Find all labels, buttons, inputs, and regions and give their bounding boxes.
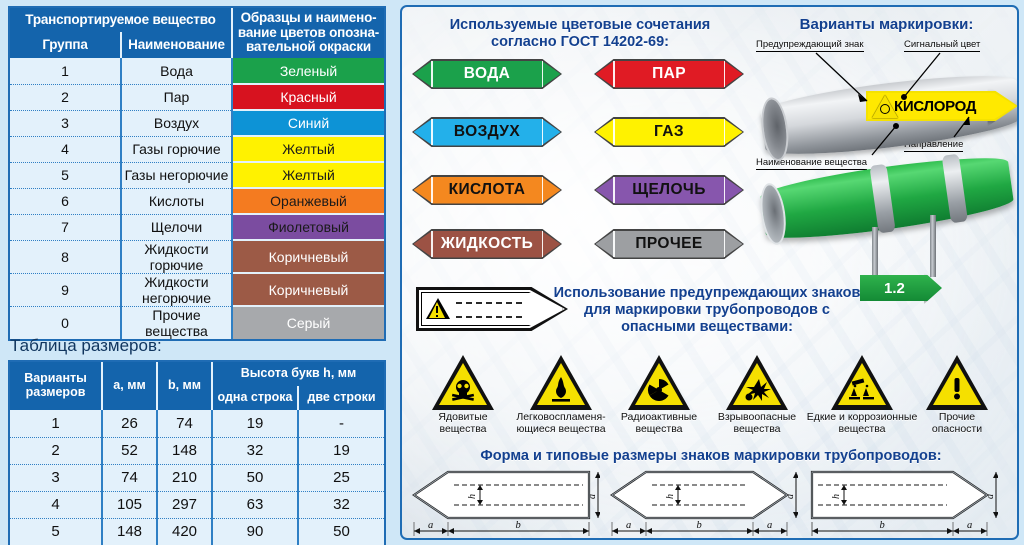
dim-mid-b: b	[880, 520, 885, 531]
pipe-band-2	[942, 154, 968, 224]
hazard-triangle	[530, 355, 592, 410]
cell-b: 420	[157, 518, 212, 545]
hazard-caption-line2: вещества	[708, 424, 806, 436]
table-row: 41052976332	[10, 491, 384, 518]
color-combos-heading-line1: Используемые цветовые сочетания	[410, 17, 750, 34]
hazard-caption-line2: вещества	[610, 424, 708, 436]
arrow-divider-left	[613, 177, 615, 203]
cell-group: 8	[10, 240, 121, 273]
cell-b: 74	[157, 410, 212, 437]
hazard-caption-line2: вещества	[806, 424, 918, 436]
cell-color-sample: Желтый	[232, 162, 384, 188]
table-row: 7ЩелочиФиолетовый	[10, 214, 384, 240]
cell-group: 9	[10, 273, 121, 306]
arrow-label-пар: ПАР	[594, 59, 744, 89]
header-one-line: одна строка	[212, 386, 298, 410]
flame-icon	[545, 375, 577, 403]
dim-height-a: a	[785, 494, 796, 499]
hazard-sign-caption: Легковоспламеня-ющиеся вещества	[512, 412, 610, 436]
shape-diagrams-row: haabhaabahaba	[408, 464, 1014, 540]
hazard-sign-skull-crossbones: Ядовитыевещества	[414, 355, 512, 436]
header-name: Наименование	[121, 32, 232, 58]
header-color-samples-text: Образцы и наимено-вание цветов опозна-ва…	[236, 11, 381, 55]
green-pipe-end-cap	[757, 182, 789, 247]
hazard-sign-caption: Взрывоопасныевещества	[708, 412, 806, 436]
cell-group: 0	[10, 306, 121, 339]
cell-group: 7	[10, 214, 121, 240]
table-row: 2ПарКрасный	[10, 84, 384, 110]
arrow-label-text: ГАЗ	[654, 123, 684, 141]
table-row: 51484209050	[10, 518, 384, 545]
cell-h-two: 19	[298, 437, 384, 464]
arrow-divider-right	[542, 231, 544, 257]
callout-warning-sign: Предупреждающий знак	[756, 39, 864, 52]
hazard-caption-line2: вещества	[414, 424, 512, 436]
cell-variant: 2	[10, 437, 102, 464]
table-row: 5Газы негорючиеЖелтый	[10, 162, 384, 188]
cell-name: Кислоты	[121, 188, 232, 214]
cell-a: 26	[102, 410, 157, 437]
pipe-end-cap	[758, 96, 792, 163]
table-row: 1ВодаЗеленый	[10, 58, 384, 84]
cell-variant: 3	[10, 464, 102, 491]
shapes-heading: Форма и типовые размеры знаков маркировк…	[408, 448, 1014, 465]
cell-color-sample: Фиолетовый	[232, 214, 384, 240]
header-size-variants: Варианты размеров	[10, 362, 102, 410]
arrow-divider-right	[724, 231, 726, 257]
arrow-label-жидкость: ЖИДКОСТЬ	[412, 229, 562, 259]
arrow-label-воздух: ВОЗДУХ	[412, 117, 562, 147]
arrow-divider-left	[613, 231, 615, 257]
exclamation-icon	[941, 375, 973, 403]
cell-h-two: 25	[298, 464, 384, 491]
cell-color-sample: Зеленый	[232, 58, 384, 84]
color-combos-heading: Используемые цветовые сочетания согласно…	[410, 17, 750, 51]
dim-left-a: a	[428, 520, 433, 531]
cell-group: 5	[10, 162, 121, 188]
cell-group: 4	[10, 136, 121, 162]
arrow-label-вода: ВОДА	[412, 59, 562, 89]
cell-group: 6	[10, 188, 121, 214]
arrow-divider-left	[613, 61, 615, 87]
sign-post-1	[872, 227, 878, 283]
dim-mid-b: b	[516, 520, 521, 531]
hazard-caption-line2: опасности	[908, 424, 1006, 436]
cell-h-two: 32	[298, 491, 384, 518]
arrow-divider-right	[542, 177, 544, 203]
arrow-label-text: ВОДА	[464, 65, 511, 83]
arrow-label-text: ВОЗДУХ	[454, 123, 520, 141]
shape-diagram-1: haab	[408, 464, 598, 540]
header-two-lines: две строки	[298, 386, 384, 410]
table-row: 9Жидкости негорючиеКоричневый	[10, 273, 384, 306]
dim-letter-h: h	[467, 494, 478, 499]
hazard-triangle	[432, 355, 494, 410]
dim-height-a: a	[985, 494, 996, 499]
cell-variant: 4	[10, 491, 102, 518]
cell-h-one: 63	[212, 491, 298, 518]
right-panel: Используемые цветовые сочетания согласно…	[400, 5, 1019, 540]
cell-a: 52	[102, 437, 157, 464]
color-combos-heading-line2: согласно ГОСТ 14202-69:	[410, 34, 750, 51]
sizes-table-title: Таблица размеров:	[10, 336, 162, 356]
arrow-divider-left	[431, 231, 433, 257]
cell-group: 3	[10, 110, 121, 136]
arrow-divider-right	[724, 61, 726, 87]
hazard-triangle	[831, 355, 893, 410]
dim-left-a: a	[626, 520, 631, 531]
cell-color-sample: Серый	[232, 306, 384, 339]
cell-name: Щелочи	[121, 214, 232, 240]
cell-b: 210	[157, 464, 212, 491]
cell-color-sample: Синий	[232, 110, 384, 136]
cell-b: 148	[157, 437, 212, 464]
dim-height-a: a	[587, 494, 598, 499]
cell-color-sample: Желтый	[232, 136, 384, 162]
shape-svg: haaba	[606, 464, 798, 540]
cell-a: 105	[102, 491, 157, 518]
dim-letter-h: h	[665, 494, 676, 499]
hazard-triangle	[726, 355, 788, 410]
hazard-caption-line1: Радиоактивные	[610, 412, 708, 424]
cell-b: 297	[157, 491, 212, 518]
example-warning-triangle-icon	[426, 298, 450, 319]
substance-table-body: 1ВодаЗеленый2ПарКрасный3ВоздухСиний4Газы…	[10, 58, 384, 339]
shape-diagram-3: haba	[806, 464, 996, 540]
sizes-table-body: 1267419-25214832193742105025410529763325…	[10, 410, 384, 545]
arrow-label-газ: ГАЗ	[594, 117, 744, 147]
arrow-divider-right	[542, 119, 544, 145]
green-pipe-label: 1.2	[860, 275, 942, 301]
hazard-sign-radiation: Радиоактивныевещества	[610, 355, 708, 436]
hazard-sign-explosion: Взрывоопасныевещества	[708, 355, 806, 436]
hazard-caption-line1: Легковоспламеня-	[512, 412, 610, 424]
table-row: 3ВоздухСиний	[10, 110, 384, 136]
hazard-sign-flame: Легковоспламеня-ющиеся вещества	[512, 355, 610, 436]
table-row: 2521483219	[10, 437, 384, 464]
header-color-samples: Образцы и наимено-вание цветов опозна-ва…	[232, 8, 384, 58]
left-column: Транспортируемое вещество Образцы и наим…	[0, 0, 392, 545]
cell-h-one: 50	[212, 464, 298, 491]
cell-h-two: 50	[298, 518, 384, 545]
arrow-label-кислота: КИСЛОТА	[412, 175, 562, 205]
dim-mid-b: b	[697, 520, 702, 531]
shape-diagram-2: haaba	[606, 464, 796, 540]
cell-name: Прочие вещества	[121, 306, 232, 339]
pipe-band-1	[869, 164, 895, 234]
arrow-divider-left	[431, 119, 433, 145]
hazard-caption-line1: Едкие и коррозионные	[806, 412, 918, 424]
shape-svg: haab	[408, 464, 600, 540]
cell-name: Жидкости горючие	[121, 240, 232, 273]
header-transported-substance: Транспортируемое вещество	[10, 8, 232, 32]
arrow-divider-left	[431, 177, 433, 203]
table-row: 3742105025	[10, 464, 384, 491]
header-group: Группа	[10, 32, 121, 58]
explosion-icon	[741, 375, 773, 403]
skull-crossbones-icon	[447, 375, 479, 403]
table-row: 4Газы горючиеЖелтый	[10, 136, 384, 162]
hazard-caption-line2: ющиеся вещества	[512, 424, 610, 436]
cell-color-sample: Оранжевый	[232, 188, 384, 214]
infographic-root: Транспортируемое вещество Образцы и наим…	[0, 0, 1024, 545]
warning-use-line2: для маркировки трубопроводов с	[542, 302, 872, 319]
cell-name: Воздух	[121, 110, 232, 136]
header-letter-height: Высота букв h, мм	[212, 362, 384, 386]
cell-color-sample: Коричневый	[232, 273, 384, 306]
table-row: 0Прочие веществаСерый	[10, 306, 384, 339]
cell-name: Пар	[121, 84, 232, 110]
oxygen-marking-sign: КИСЛОРОД	[866, 91, 1018, 121]
arrow-label-text: ЩЕЛОЧЬ	[632, 181, 706, 199]
green-pipe	[759, 150, 1015, 246]
radiation-icon	[643, 375, 675, 403]
cell-group: 2	[10, 84, 121, 110]
hazard-caption-line1: Прочие	[908, 412, 1006, 424]
corrosive-icon	[846, 375, 878, 403]
hazard-caption-line1: Взрывоопасные	[708, 412, 806, 424]
hazard-sign-caption: Прочиеопасности	[908, 412, 1006, 436]
cell-color-sample: Коричневый	[232, 240, 384, 273]
arrow-divider-right	[542, 61, 544, 87]
cell-h-one: 90	[212, 518, 298, 545]
cell-name: Газы негорючие	[121, 162, 232, 188]
hazard-triangle	[926, 355, 988, 410]
dim-letter-h: h	[831, 494, 842, 499]
hazard-sign-caption: Ядовитыевещества	[414, 412, 512, 436]
hazard-caption-line1: Ядовитые	[414, 412, 512, 424]
sizes-table: Варианты размеров a, мм b, мм Высота бук…	[8, 360, 386, 545]
hazard-triangle	[628, 355, 690, 410]
hazard-sign-caption: Едкие и коррозионныевещества	[806, 412, 918, 436]
arrow-divider-left	[613, 119, 615, 145]
sign-post-2	[930, 215, 936, 277]
warning-use-line3: опасными веществами:	[542, 319, 872, 336]
shape-svg: haba	[806, 464, 998, 540]
arrow-label-прочее: ПРОЧЕЕ	[594, 229, 744, 259]
cell-h-one: 32	[212, 437, 298, 464]
arrow-divider-right	[724, 119, 726, 145]
cell-color-sample: Красный	[232, 84, 384, 110]
arrow-label-text: КИСЛОТА	[449, 181, 526, 199]
arrow-divider-left	[431, 61, 433, 87]
cell-a: 74	[102, 464, 157, 491]
cell-variant: 5	[10, 518, 102, 545]
warning-use-line1: Использование предупреждающих знаков	[542, 285, 872, 302]
warning-use-heading: Использование предупреждающих знаков для…	[542, 285, 872, 336]
cell-name: Жидкости негорючие	[121, 273, 232, 306]
hazard-sign-exclamation: Прочиеопасности	[908, 355, 1006, 436]
arrow-label-text: ПРОЧЕЕ	[635, 235, 702, 253]
cell-variant: 1	[10, 410, 102, 437]
arrow-label-щелочь: ЩЕЛОЧЬ	[594, 175, 744, 205]
cell-name: Газы горючие	[121, 136, 232, 162]
cell-name: Вода	[121, 58, 232, 84]
table-row: 1267419-	[10, 410, 384, 437]
hazard-sign-corrosive: Едкие и коррозионныевещества	[806, 355, 918, 436]
header-b: b, мм	[157, 362, 212, 410]
table-row: 8Жидкости горючиеКоричневый	[10, 240, 384, 273]
cell-group: 1	[10, 58, 121, 84]
table-row: 6КислотыОранжевый	[10, 188, 384, 214]
substance-table: Транспортируемое вещество Образцы и наим…	[8, 6, 386, 341]
arrow-divider-right	[724, 177, 726, 203]
cell-a: 148	[102, 518, 157, 545]
callout-signal-color: Сигнальный цвет	[904, 39, 980, 52]
header-a: a, мм	[102, 362, 157, 410]
oxygen-label-text: КИСЛОРОД	[894, 98, 976, 115]
cell-h-one: 19	[212, 410, 298, 437]
arrow-label-text: ЖИДКОСТЬ	[441, 235, 533, 253]
dim-right-a: a	[767, 520, 772, 531]
dim-right-a: a	[967, 520, 972, 531]
warning-triangle-icon	[872, 95, 898, 118]
arrow-label-text: ПАР	[652, 65, 686, 83]
green-pipe-label-text: 1.2	[884, 280, 905, 297]
hazard-sign-caption: Радиоактивныевещества	[610, 412, 708, 436]
hazard-signs-row: ЯдовитыевеществаЛегковоспламеня-ющиеся в…	[408, 355, 1014, 445]
cell-h-two: -	[298, 410, 384, 437]
